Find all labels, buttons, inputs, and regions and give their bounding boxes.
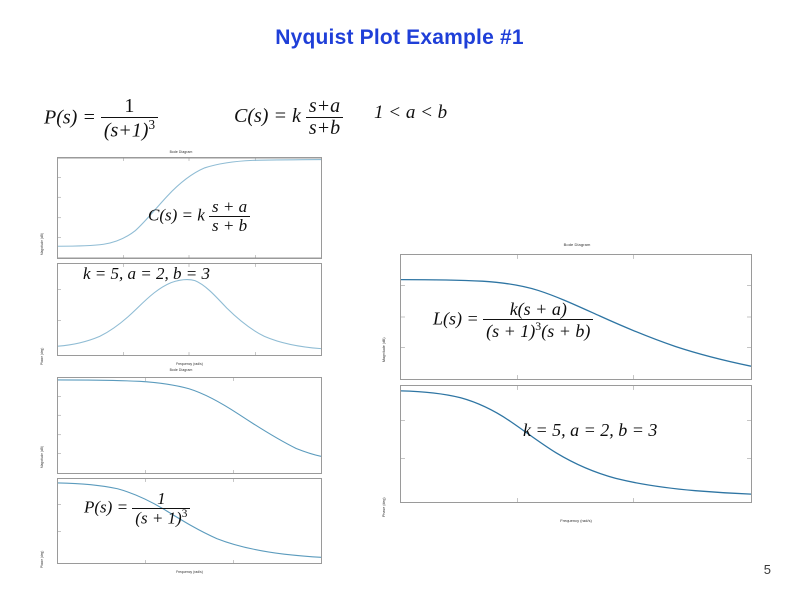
overlay-plant-denominator: (s + 1)3 xyxy=(132,508,190,528)
equation-plant: P(s) = 1 (s+1)3 xyxy=(44,96,158,142)
overlay-loop-denominator: (s + 1)3(s + b) xyxy=(483,319,593,341)
slide-canvas: Nyquist Plot Example #1 P(s) = 1 (s+1)3 … xyxy=(0,0,799,599)
equation-constraint: 1 < a < b xyxy=(374,102,447,124)
overlay-plant-den-exponent: 3 xyxy=(182,508,188,520)
overlay-plant-transfer-function: P(s) = 1 (s + 1)3 xyxy=(84,490,190,527)
overlay-loop-numerator: k(s + a) xyxy=(483,300,593,319)
overlay-controller-gains: k = 5, a = 2, b = 3 xyxy=(83,264,210,284)
overlay-loop-den-first: (s + 1) xyxy=(486,321,535,341)
equation-controller-fraction: s+a s+b xyxy=(306,96,343,139)
figure-plant-bode: Bode Diagram Magnitude (dB) Phase (deg) xyxy=(36,368,326,586)
equation-controller-numerator: s+a xyxy=(306,96,343,117)
axes-loop-phase xyxy=(400,385,752,503)
figure-plant-magnitude-ylabel: Magnitude (dB) xyxy=(40,446,44,468)
header-equation-row: P(s) = 1 (s+1)3 C(s) = k s+a s+b 1 < a <… xyxy=(44,92,514,140)
figure-plant-phase-ylabel: Phase (deg) xyxy=(40,551,44,568)
figure-controller-xlabel: Frequency (rad/s) xyxy=(57,362,322,366)
figure-loop-xlabel: Frequency (rad/s) xyxy=(400,518,752,523)
figure-loop-phase-ylabel: Phase (deg) xyxy=(382,497,386,517)
figure-controller-magnitude-ylabel: Magnitude (dB) xyxy=(40,233,44,255)
overlay-controller-denominator: s + b xyxy=(209,216,250,235)
plant-magnitude-curve xyxy=(58,378,321,473)
figure-plant-xlabel: Frequency (rad/s) xyxy=(57,570,322,574)
overlay-loop-gains: k = 5, a = 2, b = 3 xyxy=(523,420,657,441)
overlay-controller-lhs: C(s) = k xyxy=(148,205,205,224)
figure-plant-title: Bode Diagram xyxy=(36,368,326,372)
equation-controller: C(s) = k s+a s+b xyxy=(234,96,343,139)
equation-plant-lhs: P(s) = xyxy=(44,106,96,128)
figure-loop-magnitude-ylabel: Magnitude (dB) xyxy=(382,337,386,362)
overlay-controller-fraction: s + a s + b xyxy=(209,198,250,235)
overlay-controller-transfer-function: C(s) = k s + a s + b xyxy=(148,198,250,235)
page-number: 5 xyxy=(764,562,771,577)
figure-loop-title: Bode Diagram xyxy=(378,242,776,247)
equation-plant-denominator: (s+1)3 xyxy=(101,117,158,142)
overlay-loop-den-second: (s + b) xyxy=(541,321,590,341)
overlay-controller-numerator: s + a xyxy=(209,198,250,216)
equation-plant-den-base: (s+1) xyxy=(104,120,149,142)
overlay-plant-lhs: P(s) = xyxy=(84,498,128,517)
overlay-loop-fraction: k(s + a) (s + 1)3(s + b) xyxy=(483,300,593,341)
overlay-plant-den-base: (s + 1) xyxy=(135,509,181,528)
overlay-loop-transfer-function: L(s) = k(s + a) (s + 1)3(s + b) xyxy=(433,300,593,341)
loop-phase-curve xyxy=(401,386,751,502)
page-title: Nyquist Plot Example #1 xyxy=(0,26,799,50)
equation-controller-lhs: C(s) = k xyxy=(234,105,301,127)
figure-loop-bode: Bode Diagram Magnitude (dB) Phase (deg) xyxy=(378,242,776,542)
overlay-loop-lhs: L(s) = xyxy=(433,309,479,329)
equation-plant-fraction: 1 (s+1)3 xyxy=(101,96,158,142)
axes-plant-magnitude xyxy=(57,377,322,474)
figure-controller-title: Bode Diagram xyxy=(36,150,326,154)
overlay-plant-fraction: 1 (s + 1)3 xyxy=(132,490,190,527)
equation-plant-numerator: 1 xyxy=(101,96,158,117)
figure-controller-phase-ylabel: Phase (deg) xyxy=(40,348,44,365)
overlay-plant-numerator: 1 xyxy=(132,490,190,508)
equation-controller-denominator: s+b xyxy=(306,117,343,139)
figure-controller-bode: Bode Diagram Magnitude (dB) Phase (deg) xyxy=(36,150,326,385)
equation-plant-den-exponent: 3 xyxy=(148,117,155,132)
